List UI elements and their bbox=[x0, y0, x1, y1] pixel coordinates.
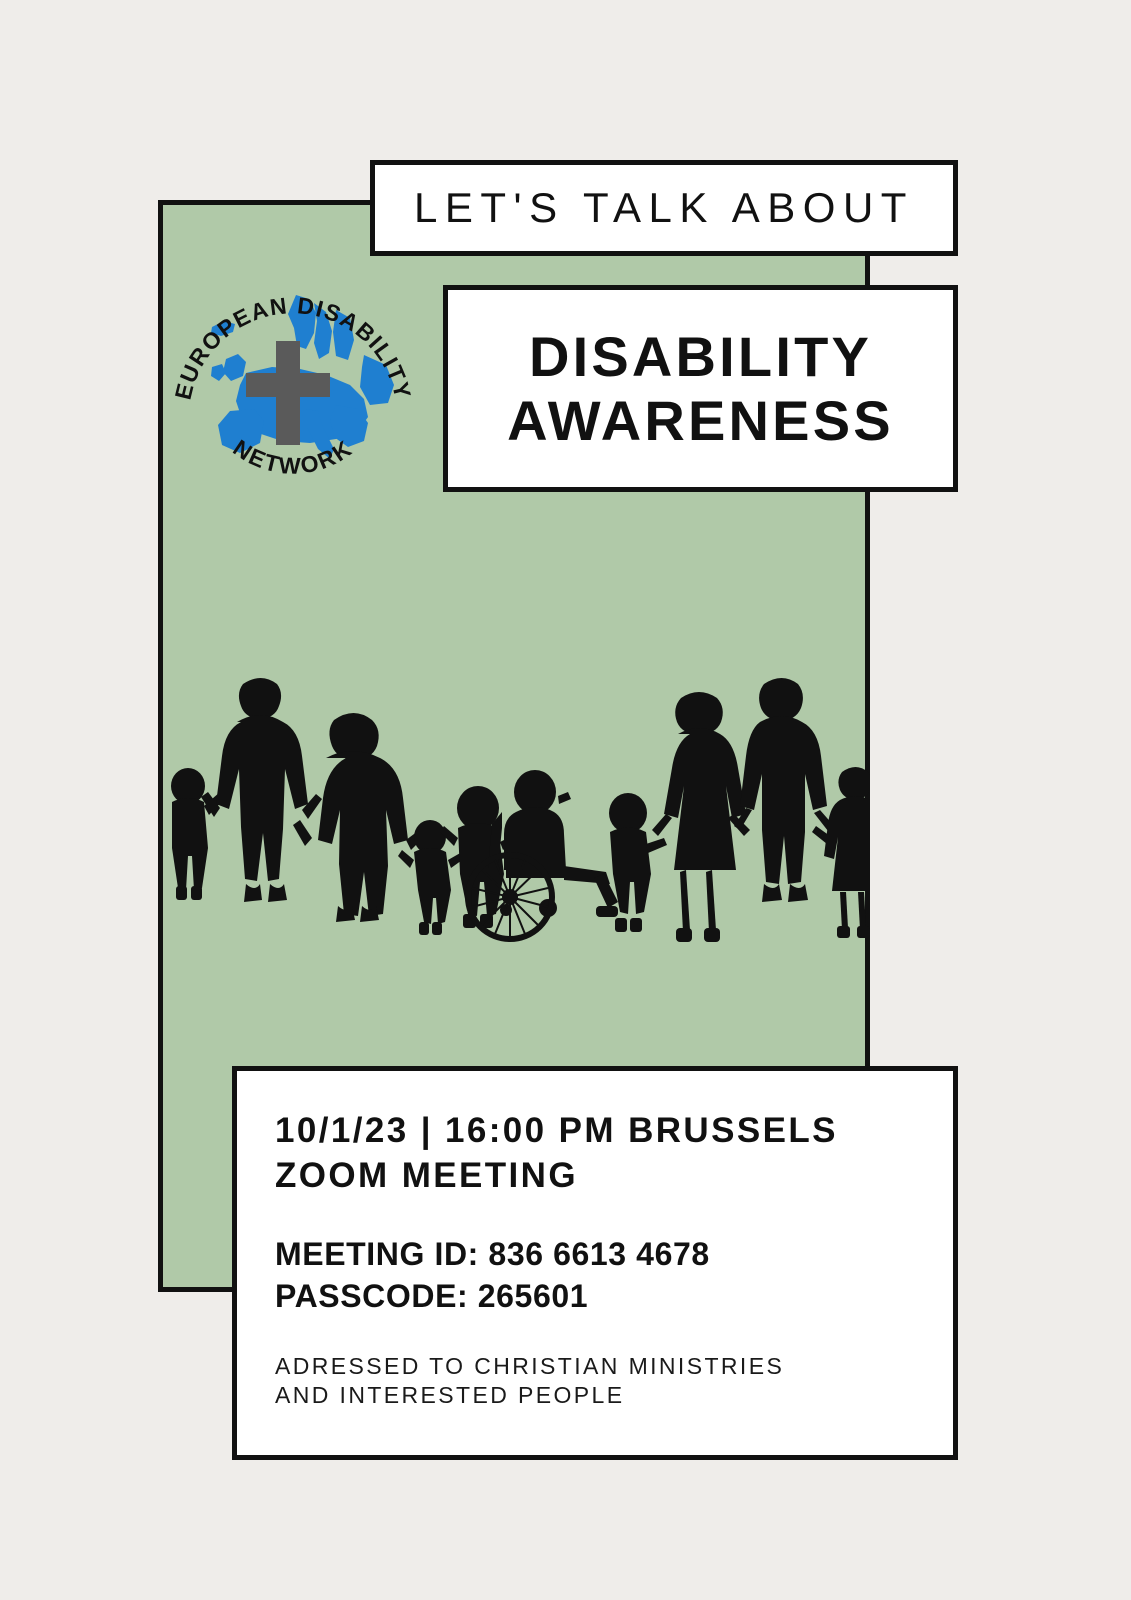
kicker-text: LET'S TALK ABOUT bbox=[414, 187, 914, 229]
audience-line-1: ADRESSED TO CHRISTIAN MINISTRIES bbox=[275, 1352, 915, 1381]
meeting-id[interactable]: MEETING ID: 836 6613 4678 bbox=[275, 1233, 915, 1276]
silhouette-group bbox=[171, 678, 870, 942]
silhouette-woman-dress bbox=[652, 692, 750, 942]
wheelchair-wheel-icon bbox=[468, 855, 552, 939]
silhouette-woman-large bbox=[293, 713, 427, 922]
meeting-passcode[interactable]: PASSCODE: 265601 bbox=[275, 1275, 915, 1318]
people-silhouettes-illustration bbox=[160, 660, 870, 960]
event-details-box: 10/1/23 | 16:00 PM BRUSSELS ZOOM MEETING… bbox=[232, 1066, 958, 1460]
page-title-line-1: DISABILITY bbox=[529, 325, 872, 388]
silhouette-man-tall bbox=[201, 678, 322, 902]
event-credentials-block: MEETING ID: 836 6613 4678 PASSCODE: 2656… bbox=[275, 1233, 915, 1318]
page-title-line-2: AWARENESS bbox=[507, 389, 894, 452]
event-platform: ZOOM MEETING bbox=[275, 1154, 915, 1199]
silhouette-toddler-left bbox=[171, 768, 225, 900]
kicker-box: LET'S TALK ABOUT bbox=[370, 160, 958, 256]
title-box: DISABILITY AWARENESS bbox=[443, 285, 958, 492]
silhouette-man-right bbox=[734, 678, 834, 902]
event-audience-block: ADRESSED TO CHRISTIAN MINISTRIES AND INT… bbox=[275, 1352, 915, 1410]
event-date-time-location: 10/1/23 | 16:00 PM BRUSSELS bbox=[275, 1109, 915, 1154]
european-disability-network-logo: EUROPEAN DISABILITY NETWORK bbox=[168, 255, 418, 495]
audience-line-2: AND INTERESTED PEOPLE bbox=[275, 1381, 915, 1410]
poster-canvas: EUROPEAN DISABILITY NETWORK bbox=[0, 0, 1131, 1600]
event-when-block: 10/1/23 | 16:00 PM BRUSSELS ZOOM MEETING bbox=[275, 1109, 915, 1199]
